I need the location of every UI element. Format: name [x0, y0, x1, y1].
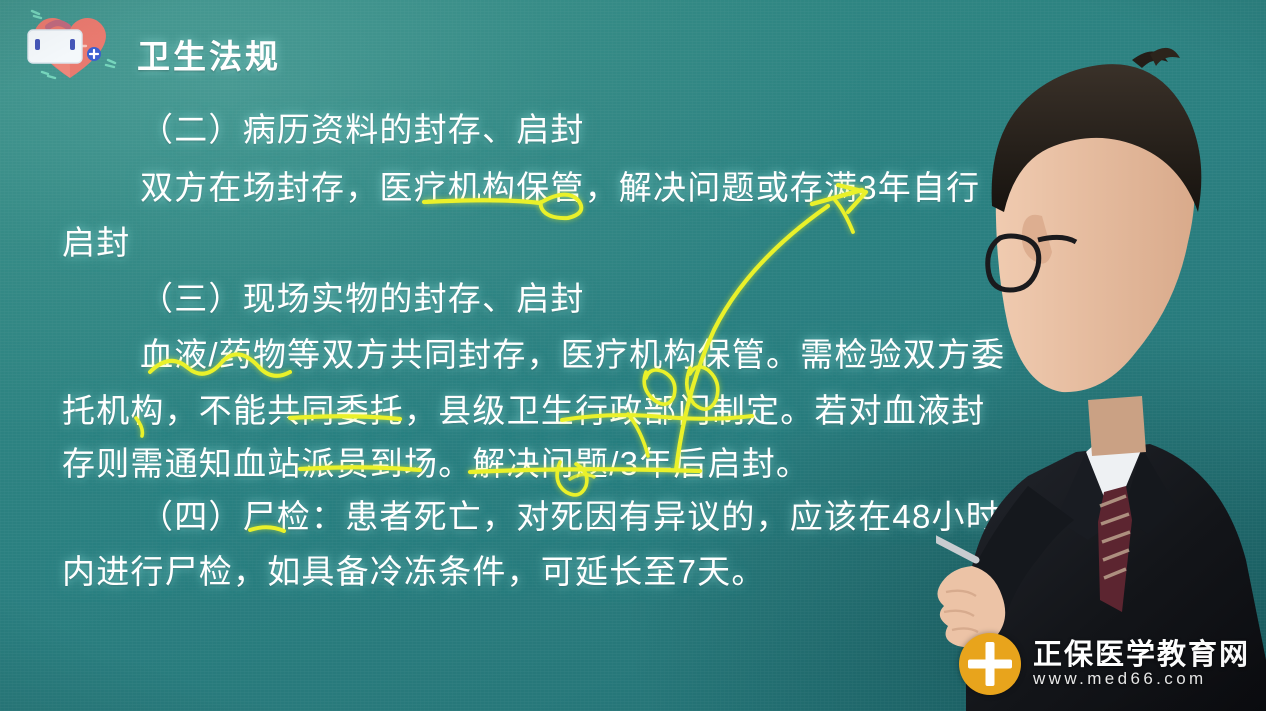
pointer-pen [936, 534, 976, 560]
presenter-instructor [936, 0, 1266, 711]
brand-url: www.med66.com [1033, 670, 1250, 688]
slide-text-block: （二）病历资料的封存、启封 双方在场封存，医疗机构保管，解决问题或存满3年自行 … [0, 0, 1010, 711]
slide-line: 启封 [62, 216, 130, 264]
slide-line: 托机构，不能共同委托，县级卫生行政部门制定。若对血液封 [62, 384, 985, 432]
video-lecture-screen: 卫生法规 （二）病历资料的封存、启封 双方在场封存，医疗机构保管，解决问题或存满… [0, 0, 1266, 711]
slide-line: 内进行尸检，如具备冷冻条件，可延长至7天。 [62, 545, 766, 593]
slide-line: （三）现场实物的封存、启封 [140, 272, 585, 320]
slide-line: 双方在场封存，医疗机构保管，解决问题或存满3年自行 [140, 161, 980, 209]
cross-badge-icon [959, 633, 1021, 695]
neck [1088, 396, 1146, 456]
slide-line: （四）尸检：患者死亡，对死因有异议的，应该在48小时 [140, 490, 1000, 538]
brand-watermark: 正保医学教育网 www.med66.com [959, 633, 1250, 695]
hair-tuft-2 [1150, 48, 1180, 66]
brand-name: 正保医学教育网 [1033, 640, 1250, 670]
slide-line: （二）病历资料的封存、启封 [140, 103, 585, 151]
slide-line: 存则需通知血站派员到场。解决问题/3年后启封。 [62, 437, 810, 485]
slide-line: 血液/药物等双方共同封存，医疗机构保管。需检验双方委 [140, 328, 1005, 376]
